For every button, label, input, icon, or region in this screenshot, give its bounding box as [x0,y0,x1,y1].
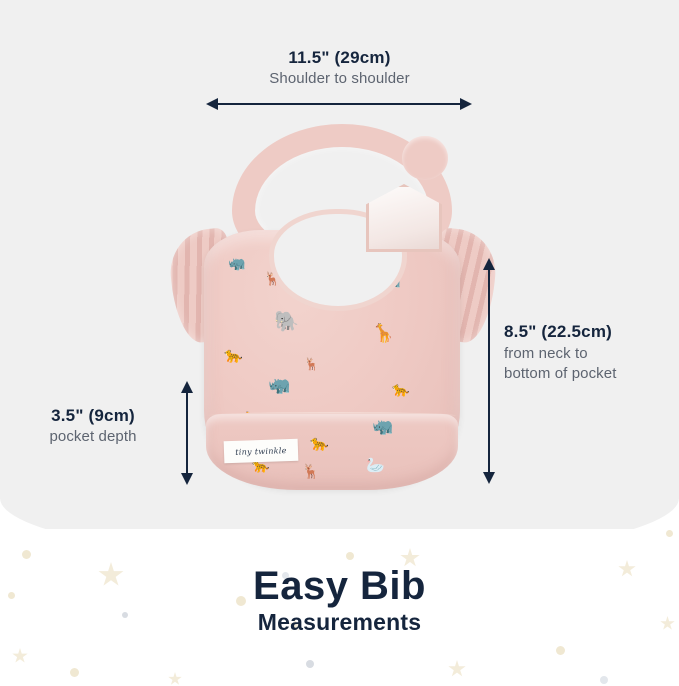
print-elephant-icon: 🐘 [274,312,299,332]
dot-decoration [600,676,608,684]
print-lion-icon: 🐆 [224,348,243,363]
print-rhino-icon: 🦏 [372,418,393,435]
print-giraffe-icon: 🦒 [372,324,394,342]
print-deer-icon: 🦌 [304,358,319,370]
dot-decoration [70,668,79,677]
product-subtitle: Measurements [0,608,679,638]
product-title: Easy Bib [0,565,679,608]
brand-label: tiny twinkle [224,439,299,464]
footer-title-block: Easy Bib Measurements [0,565,679,638]
print-cheetah-icon: 🐆 [392,382,409,396]
product-measurement-infographic: 🦒 🦌 🐘 🦒 🐆 🦏 🐆 🦏 🦏 🐆 🦌 🦒 🦏 🐆 🐆 🦢 🦌 tiny t… [0,0,679,679]
neck-to-pocket-measurement-description: from neck to bottom of pocket [504,344,620,385]
print-deer-icon: 🦌 [302,464,319,478]
pocket-depth-measurement-value: 3.5" (9cm) [12,406,174,426]
pocket-depth-dimension-arrow [186,392,188,474]
shoulder-measurement-value: 11.5" (29cm) [0,48,679,68]
dot-decoration [22,550,31,559]
bib-strap-tip [402,136,448,180]
print-rhino-icon: 🦏 [228,256,245,270]
neck-to-pocket-measurement-value: 8.5" (22.5cm) [504,322,620,342]
dot-decoration [306,660,314,668]
pocket-depth-measurement-description: pocket depth [12,428,174,445]
neck-to-pocket-dimension-arrow [488,269,490,473]
shoulder-measurement-label: 11.5" (29cm) Shoulder to shoulder [0,48,679,87]
shoulder-measurement-description: Shoulder to shoulder [0,70,679,87]
print-lion-icon: 🐆 [310,436,329,451]
dot-decoration [556,646,565,655]
shoulder-dimension-arrow [217,103,461,105]
print-rhino-icon: 🦏 [268,376,290,394]
dot-decoration [666,530,673,537]
print-ostrich-icon: 🦢 [366,458,385,473]
neck-to-pocket-measurement-label: 8.5" (22.5cm) from neck to bottom of poc… [504,322,620,385]
bib-product-image: 🦒 🦌 🐘 🦒 🐆 🦏 🐆 🦏 🦏 🐆 🦌 🦒 🦏 🐆 🐆 🦢 🦌 tiny t… [176,122,488,490]
pocket-depth-measurement-label: 3.5" (9cm) pocket depth [12,406,174,445]
dot-decoration [346,552,354,560]
